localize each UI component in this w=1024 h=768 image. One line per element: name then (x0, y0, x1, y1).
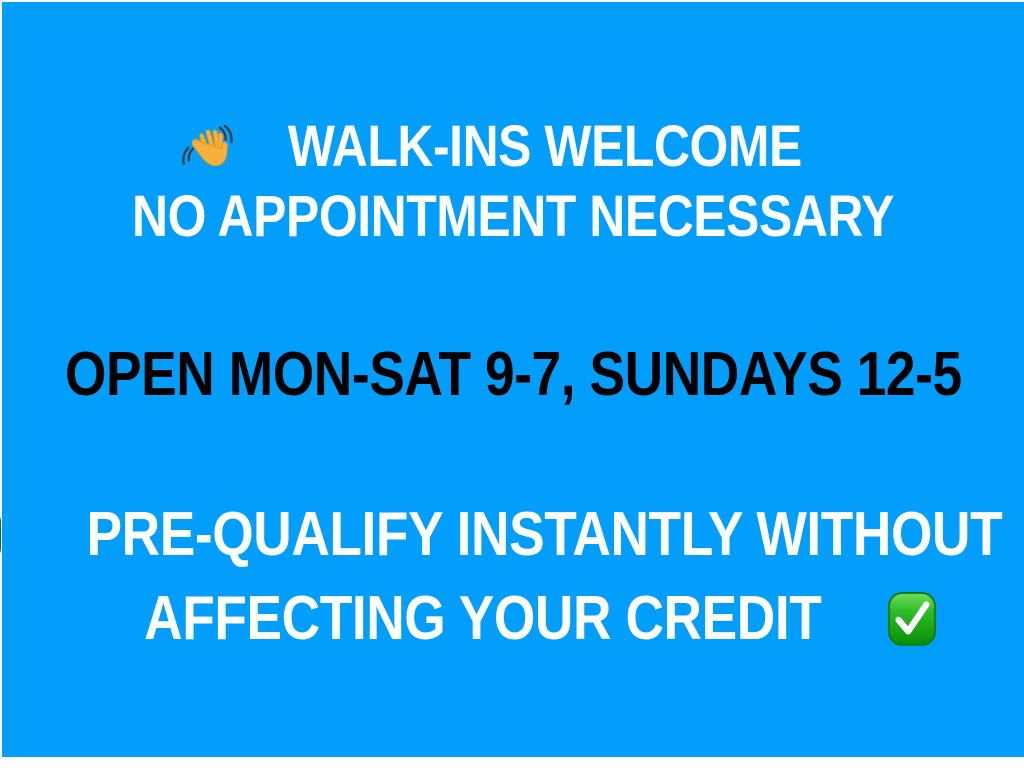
sign-background-panel: WALK-INS WELCOME NO APPOINTMENT NECESSAR… (2, 2, 1024, 757)
sign-line-hours-text: OPEN MON-SAT 9-7, SUNDAYS 12-5 (65, 344, 962, 406)
sign-text-content: WALK-INS WELCOME NO APPOINTMENT NECESSAR… (2, 2, 1024, 757)
sign-line-credit-text: AFFECTING YOUR CREDIT (144, 588, 821, 650)
check-mark-button-icon (0, 506, 2, 564)
sign-poster: WALK-INS WELCOME NO APPOINTMENT NECESSAR… (0, 0, 1024, 768)
waving-hand-icon (182, 120, 236, 174)
sign-line-prequalify: PRE-QUALIFY INSTANTLY WITHOUT (2, 504, 1024, 566)
sign-line-welcome: WALK-INS WELCOME (2, 118, 1024, 176)
sign-line-no-appointment: NO APPOINTMENT NECESSARY (2, 188, 1024, 246)
sign-line-hours: OPEN MON-SAT 9-7, SUNDAYS 12-5 (2, 344, 1024, 406)
sign-line-credit: AFFECTING YOUR CREDIT (2, 588, 1024, 650)
check-mark-button-icon-trailing (887, 591, 937, 647)
sign-line-no-appointment-text: NO APPOINTMENT NECESSARY (132, 188, 894, 246)
sign-line-prequalify-text: PRE-QUALIFY INSTANTLY WITHOUT (86, 504, 1002, 566)
sign-line-welcome-text: WALK-INS WELCOME (288, 118, 802, 176)
